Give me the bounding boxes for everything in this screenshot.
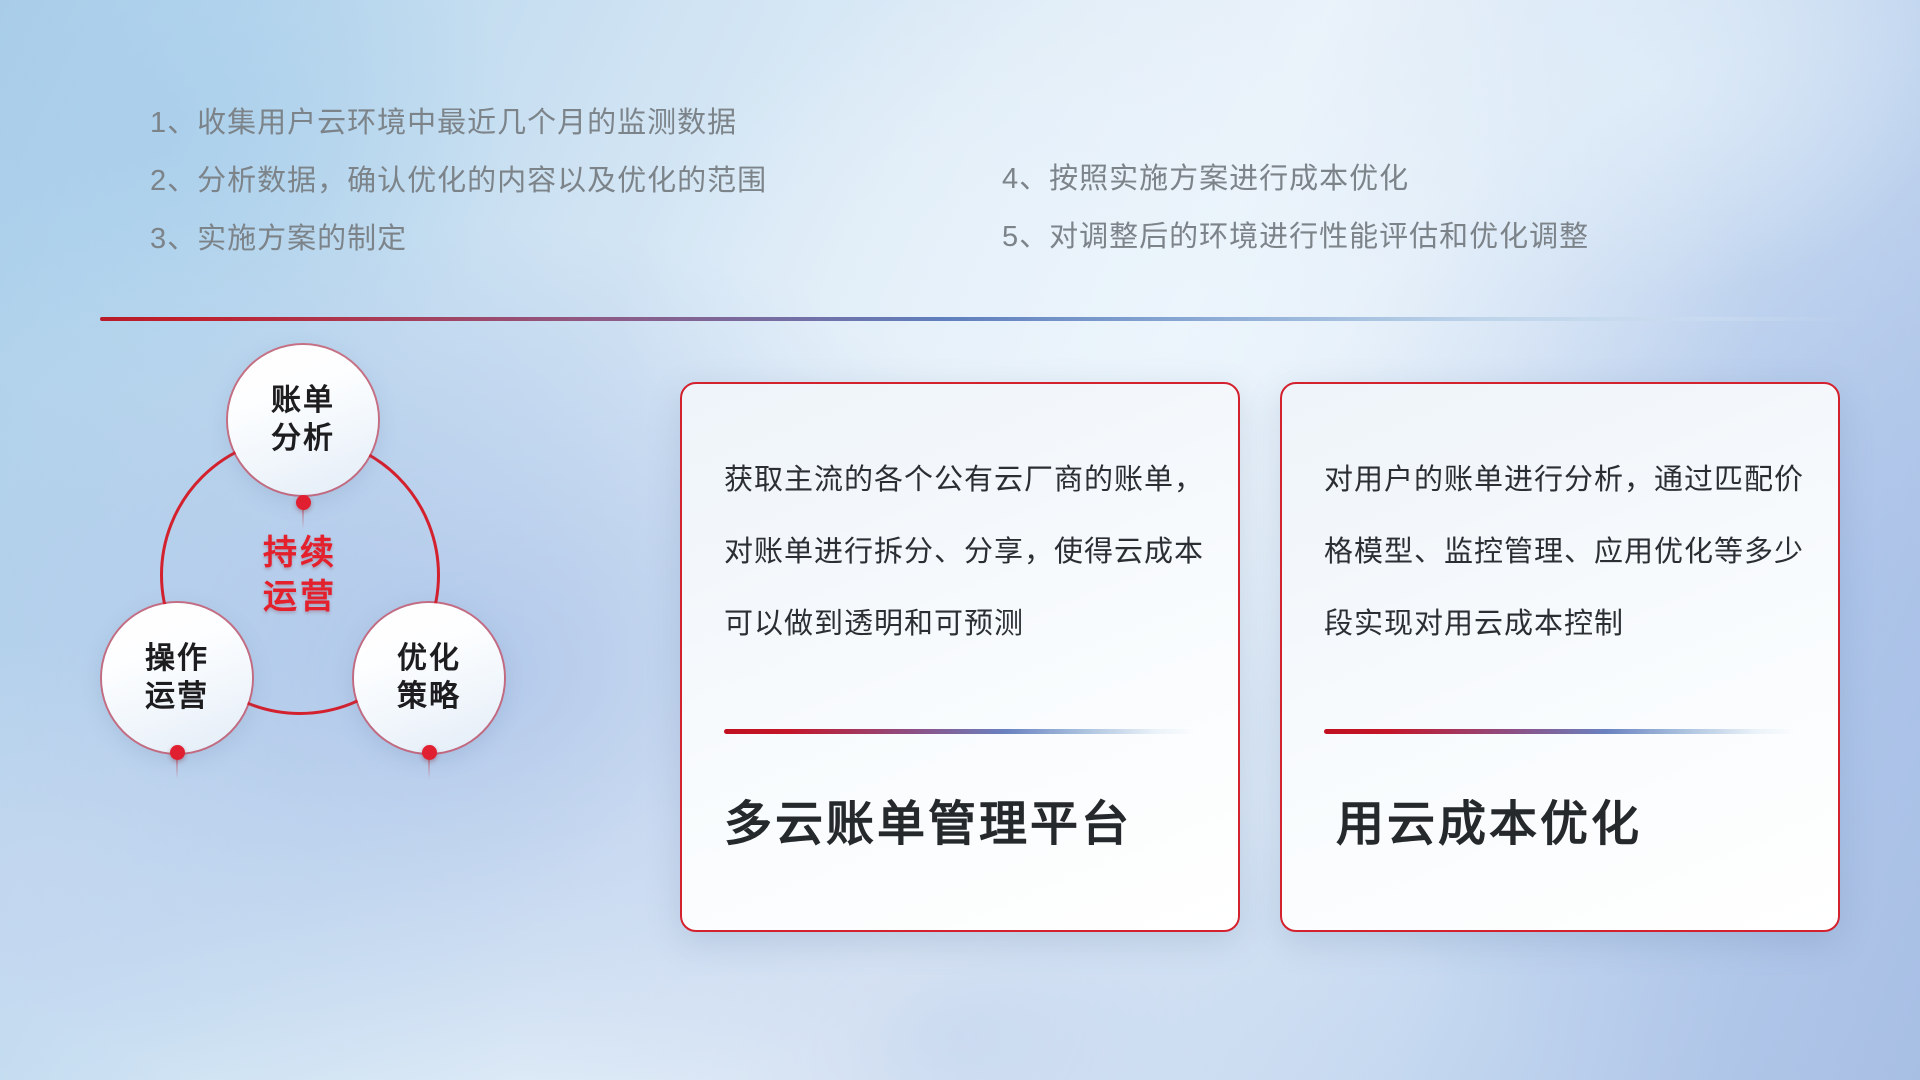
process-step-2: 2、分析数据，确认优化的内容以及优化的范围 [150,152,767,210]
process-steps-list: 1、收集用户云环境中最近几个月的监测数据 2、分析数据，确认优化的内容以及优化的… [0,0,1920,270]
process-step-4: 4、按照实施方案进行成本优化 [1002,150,1589,208]
process-steps-left-column: 1、收集用户云环境中最近几个月的监测数据 2、分析数据，确认优化的内容以及优化的… [150,94,767,268]
feature-card-cloud-cost-optimization[interactable]: 对用户的账单进行分析，通过匹配价格模型、监控管理、应用优化等多少段实现对用云成本… [1280,382,1840,932]
diagram-center-line1: 持续 [263,534,337,572]
diagram-center-line2: 运营 [263,578,337,616]
process-step-3: 3、实施方案的制定 [150,210,767,268]
diagram-center-label: 持续 运营 [160,435,440,715]
feature-card-multi-cloud-billing[interactable]: 获取主流的各个公有云厂商的账单，对账单进行拆分、分享，使得云成本可以做到透明和可… [680,382,1240,932]
diagram-circle-top-line1: 账单 [271,384,335,417]
process-step-1: 1、收集用户云环境中最近几个月的监测数据 [150,94,767,152]
feature-card-2-rule [1324,729,1794,734]
feature-card-1-title: 多云账单管理平台 [724,784,1208,854]
feature-card-1-body: 获取主流的各个公有云厂商的账单，对账单进行拆分、分享，使得云成本可以做到透明和可… [724,444,1204,660]
diagram-node-dot-right [422,745,437,760]
diagram-node-dot-top [296,495,311,510]
feature-card-2-title: 用云成本优化 [1336,784,1808,854]
continuous-operation-diagram: 账单 分析 操作 运营 优化 策略 持续 运营 [100,345,640,965]
process-step-5: 5、对调整后的环境进行性能评估和优化调整 [1002,208,1589,266]
feature-card-2-body: 对用户的账单进行分析，通过匹配价格模型、监控管理、应用优化等多少段实现对用云成本… [1324,444,1804,660]
process-steps-right-column: 4、按照实施方案进行成本优化 5、对调整后的环境进行性能评估和优化调整 [1002,150,1589,266]
feature-card-1-rule [724,729,1194,734]
section-divider [100,317,1860,321]
diagram-node-dot-left [170,745,185,760]
